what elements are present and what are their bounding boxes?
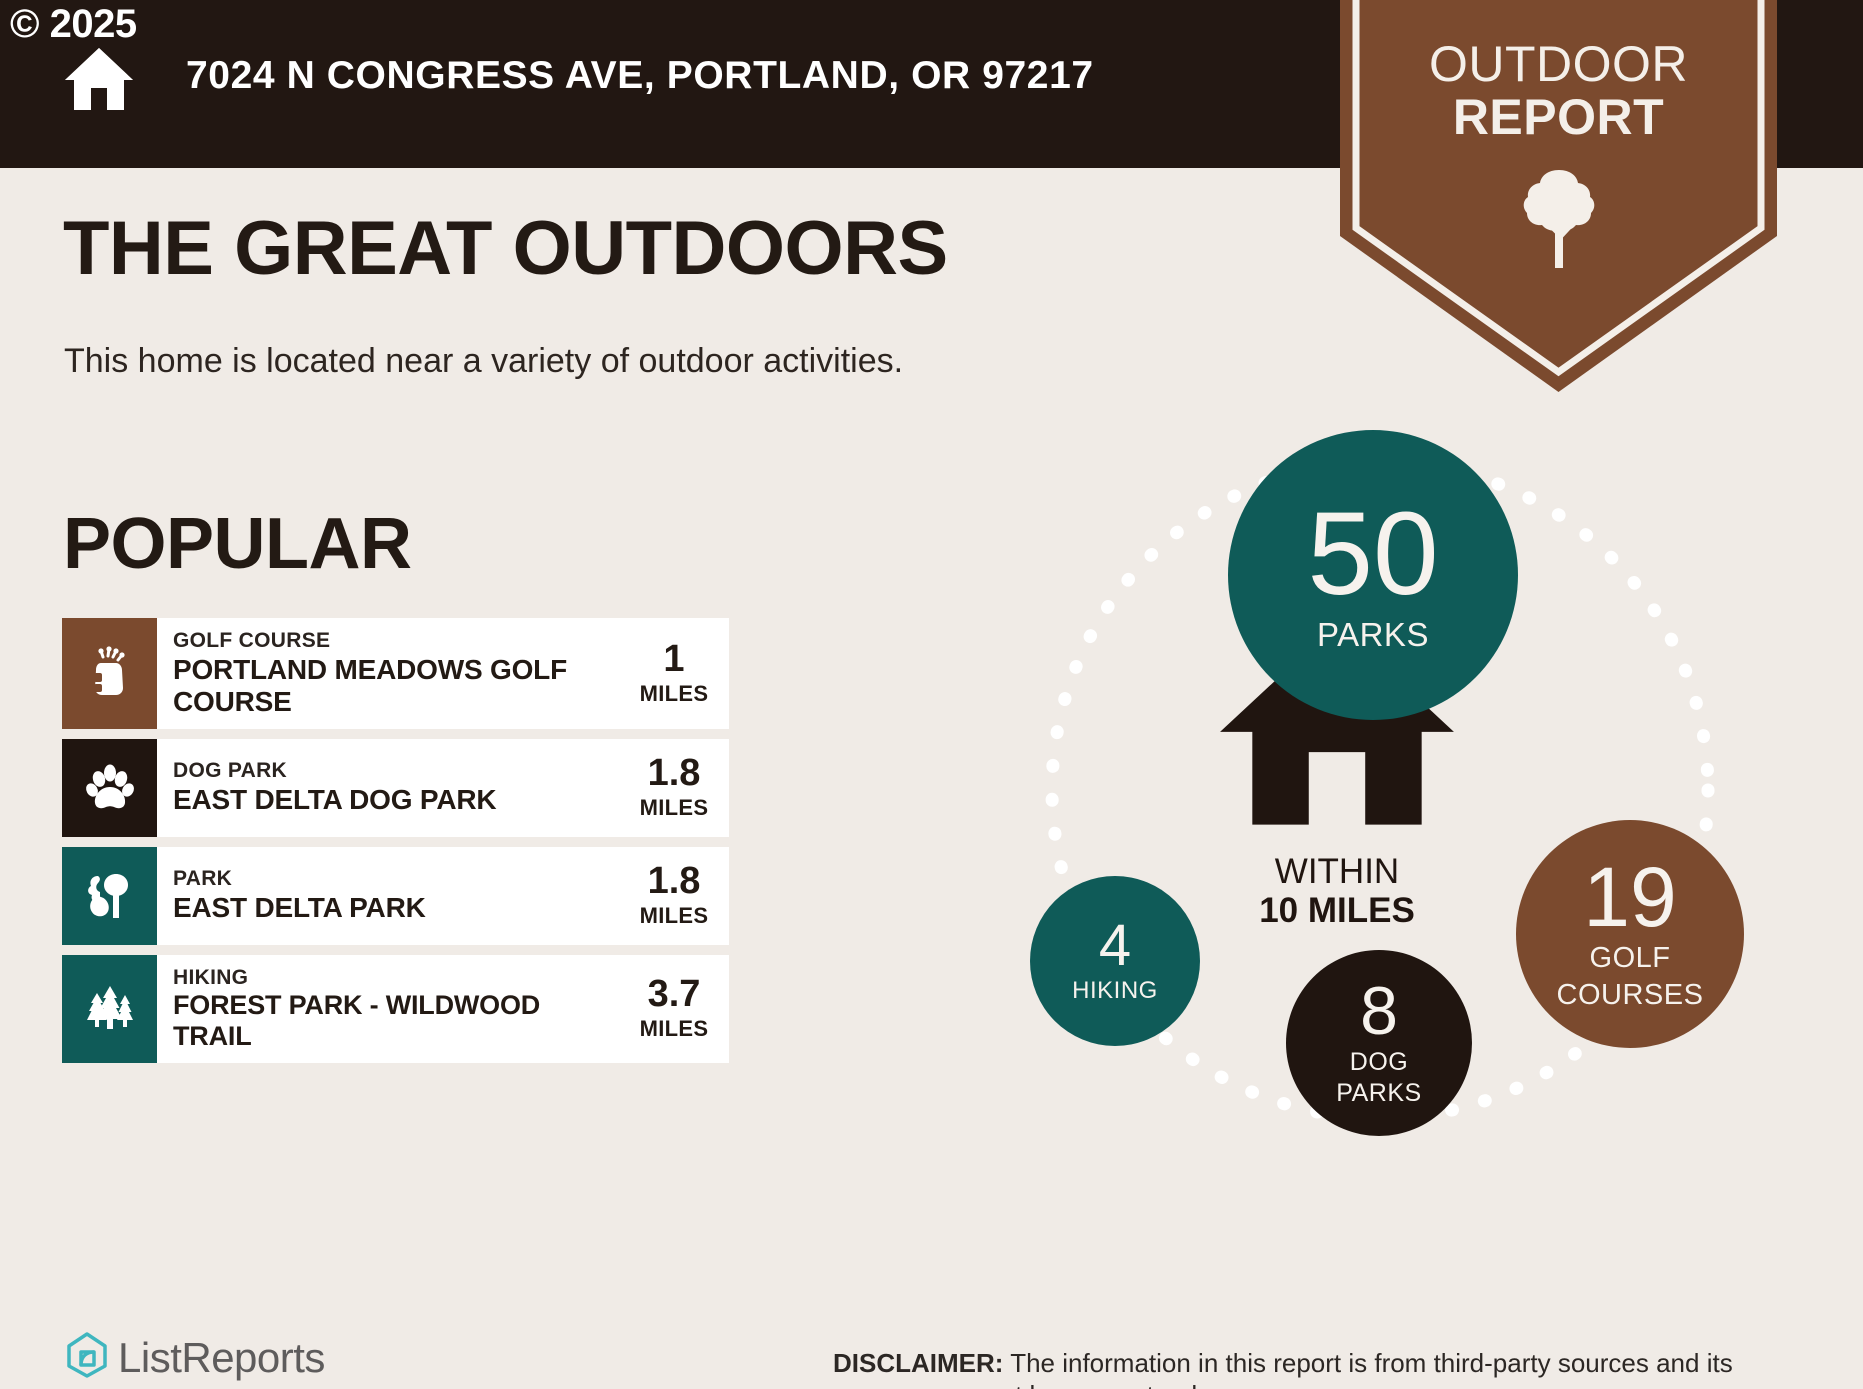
poi-distance-value: 3.7: [648, 975, 701, 1013]
house-icon: [62, 42, 136, 116]
poi-distance-value: 1: [663, 640, 684, 678]
bubble-dog-value: 8: [1360, 979, 1398, 1044]
poi-distance: 1 MILES: [633, 618, 729, 729]
list-item-text: GOLF COURSE PORTLAND MEADOWS GOLF COURSE: [157, 618, 633, 729]
chart-center-line2: 10 MILES: [1212, 891, 1462, 930]
bubble-dog-label-line2: PARKS: [1336, 1080, 1421, 1106]
poi-name: PORTLAND MEADOWS GOLF COURSE: [173, 654, 625, 718]
poi-category: GOLF COURSE: [173, 629, 625, 654]
poi-distance-value: 1.8: [648, 862, 701, 900]
paw-print-icon: [62, 739, 157, 837]
bubble-dog-parks[interactable]: 8 DOG PARKS: [1286, 950, 1472, 1136]
poi-distance-unit: MILES: [640, 903, 709, 929]
poi-distance-value: 1.8: [648, 754, 701, 792]
golf-bag-icon: [62, 618, 157, 729]
poi-category: HIKING: [173, 966, 625, 991]
within-10-miles-bubble-chart: WITHIN 10 MILES 50 PARKS 19 GOLF COURSES…: [1000, 420, 1800, 1220]
house-icon: [1212, 828, 1462, 845]
outdoor-report-badge: OUTDOOR REPORT: [1340, 0, 1777, 392]
copyright-label: © 2025: [10, 2, 137, 47]
poi-distance: 1.8 MILES: [633, 739, 729, 837]
disclaimer-label: DISCLAIMER:: [833, 1348, 1003, 1378]
popular-poi-list: GOLF COURSE PORTLAND MEADOWS GOLF COURSE…: [62, 618, 729, 1073]
poi-category: PARK: [173, 867, 625, 892]
bubble-hiking-label: HIKING: [1072, 978, 1158, 1003]
bubble-parks-value: 50: [1307, 498, 1438, 610]
bubble-hiking-value: 4: [1099, 918, 1131, 973]
bubble-golf-label-line1: GOLF: [1590, 943, 1671, 973]
bubble-parks[interactable]: 50 PARKS: [1228, 430, 1518, 720]
poi-name: FOREST PARK - WILDWOOD TRAIL: [173, 990, 625, 1052]
list-item[interactable]: GOLF COURSE PORTLAND MEADOWS GOLF COURSE…: [62, 618, 729, 729]
park-trees-icon: [62, 847, 157, 945]
listreports-logo[interactable]: ListReports: [66, 1332, 325, 1383]
pine-trees-icon: [62, 955, 157, 1063]
bubble-golf-courses[interactable]: 19 GOLF COURSES: [1516, 820, 1744, 1048]
chart-center-line1: WITHIN: [1212, 852, 1462, 891]
poi-distance-unit: MILES: [640, 1016, 709, 1042]
poi-name: EAST DELTA DOG PARK: [173, 784, 625, 816]
tree-icon: [1521, 166, 1597, 270]
list-item-text: HIKING FOREST PARK - WILDWOOD TRAIL: [157, 955, 633, 1063]
poi-distance: 1.8 MILES: [633, 847, 729, 945]
list-item[interactable]: DOG PARK EAST DELTA DOG PARK 1.8 MILES: [62, 739, 729, 837]
poi-category: DOG PARK: [173, 759, 625, 784]
list-item-text: DOG PARK EAST DELTA DOG PARK: [157, 739, 633, 837]
poi-distance: 3.7 MILES: [633, 955, 729, 1063]
disclaimer: DISCLAIMER: The information in this repo…: [833, 1348, 1833, 1389]
poi-distance-unit: MILES: [640, 681, 709, 707]
poi-distance-unit: MILES: [640, 795, 709, 821]
listreports-house-icon: [66, 1332, 108, 1383]
list-item-text: PARK EAST DELTA PARK: [157, 847, 633, 945]
bubble-dog-label-line1: DOG: [1350, 1049, 1408, 1075]
bubble-hiking[interactable]: 4 HIKING: [1030, 876, 1200, 1046]
listreports-wordmark: ListReports: [118, 1334, 325, 1382]
list-item[interactable]: HIKING FOREST PARK - WILDWOOD TRAIL 3.7 …: [62, 955, 729, 1063]
poi-name: EAST DELTA PARK: [173, 892, 625, 924]
list-item[interactable]: PARK EAST DELTA PARK 1.8 MILES: [62, 847, 729, 945]
property-address: 7024 N CONGRESS AVE, PORTLAND, OR 97217: [186, 54, 1094, 98]
bubble-golf-label-line2: COURSES: [1557, 980, 1704, 1010]
page-subtitle: This home is located near a variety of o…: [64, 342, 903, 381]
page-title: THE GREAT OUTDOORS: [63, 205, 948, 292]
popular-section-heading: POPULAR: [63, 503, 412, 585]
bubble-parks-label: PARKS: [1317, 618, 1429, 653]
bubble-golf-value: 19: [1583, 858, 1676, 938]
